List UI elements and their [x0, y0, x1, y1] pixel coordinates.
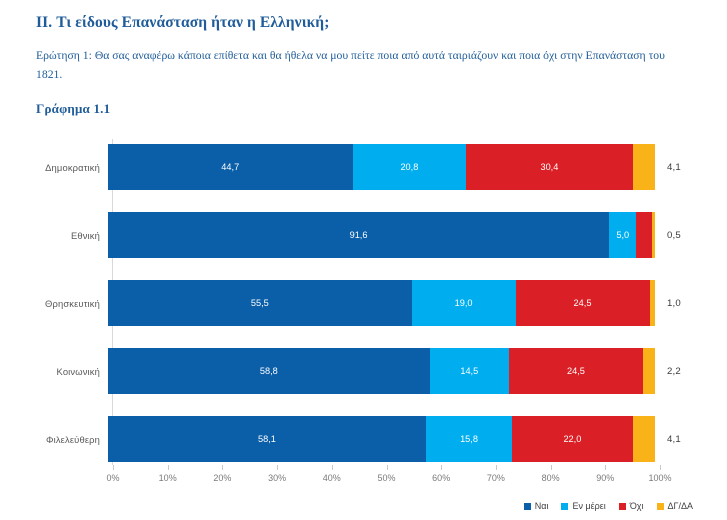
- segment-value: 24,5: [574, 298, 592, 308]
- legend-item-1[interactable]: Εν μέρει: [561, 501, 605, 511]
- x-axis-tick: [222, 465, 223, 470]
- bar-segment-2: 24,5: [509, 348, 643, 394]
- x-axis-tick: [441, 465, 442, 470]
- bar-segment-3: 4,1: [633, 416, 655, 462]
- x-axis-tick-label: 40%: [323, 473, 341, 483]
- x-axis-tick: [277, 465, 278, 470]
- x-axis-tick-label: 0%: [106, 473, 119, 483]
- stacked-bar: 91,65,02,90,5: [108, 212, 655, 258]
- bar-segment-1: 15,8: [426, 416, 512, 462]
- bar-segment-1: 5,0: [609, 212, 636, 258]
- segment-value: 58,1: [258, 434, 276, 444]
- x-axis-tick-label: 100%: [648, 473, 671, 483]
- bar-segment-3: 2,2: [643, 348, 655, 394]
- x-axis: 0%10%20%30%40%50%60%70%80%90%100%: [113, 465, 660, 495]
- outside-value-label: 1,0: [667, 298, 681, 309]
- header-block: II. Τι είδους Επανάσταση ήταν η Ελληνική…: [0, 0, 727, 117]
- x-axis-tick: [660, 465, 661, 470]
- figure-label: Γράφημα 1.1: [36, 101, 693, 117]
- segment-value: 58,8: [260, 366, 278, 376]
- x-axis-tick: [113, 465, 114, 470]
- x-axis-tick: [605, 465, 606, 470]
- chart-row: Δημοκρατική44,720,830,44,14,1: [0, 133, 727, 201]
- page-title: II. Τι είδους Επανάσταση ήταν η Ελληνική…: [36, 14, 693, 33]
- legend-swatch-icon: [619, 503, 626, 510]
- outside-value-label: 2,2: [667, 366, 681, 377]
- x-axis-tick: [332, 465, 333, 470]
- stacked-bar: 58,814,524,52,2: [108, 348, 655, 394]
- stacked-bar: 58,115,822,04,1: [108, 416, 655, 462]
- bar-segment-1: 14,5: [430, 348, 509, 394]
- category-label: Φιλελεύθερη: [0, 434, 108, 445]
- legend-swatch-icon: [524, 503, 531, 510]
- bar-segment-1: 19,0: [412, 280, 516, 326]
- segment-value: 19,0: [455, 298, 473, 308]
- bar-segment-0: 58,1: [108, 416, 426, 462]
- segment-value: 24,5: [567, 366, 585, 376]
- chart-row: Φιλελεύθερη58,115,822,04,14,1: [0, 405, 727, 473]
- legend-label: Όχι: [630, 501, 644, 511]
- outside-value-label: 0,5: [667, 230, 681, 241]
- outside-value-label: 4,1: [667, 162, 681, 173]
- x-axis-tick-label: 10%: [159, 473, 177, 483]
- legend-swatch-icon: [657, 503, 664, 510]
- segment-value: 5,0: [616, 230, 629, 240]
- chart-row: Θρησκευτική55,519,024,51,01,0: [0, 269, 727, 337]
- legend-item-3[interactable]: ΔΓ/ΔΑ: [657, 501, 693, 511]
- x-axis-tick-label: 80%: [542, 473, 560, 483]
- bar-segment-1: 20,8: [353, 144, 467, 190]
- legend-label: ΔΓ/ΔΑ: [668, 501, 693, 511]
- chart-legend: ΝαιΕν μέρειΌχιΔΓ/ΔΑ: [524, 501, 693, 511]
- segment-value: 20,8: [400, 162, 418, 172]
- legend-label: Ναι: [535, 501, 549, 511]
- segment-value: 30,4: [540, 162, 558, 172]
- legend-item-2[interactable]: Όχι: [619, 501, 644, 511]
- bar-segment-2: 2,9: [636, 212, 652, 258]
- stacked-bar-chart: Δημοκρατική44,720,830,44,14,1Εθνική91,65…: [0, 133, 727, 520]
- segment-value: 44,7: [221, 162, 239, 172]
- segment-value: 14,5: [460, 366, 478, 376]
- bar-segment-0: 58,8: [108, 348, 430, 394]
- category-label: Δημοκρατική: [0, 162, 108, 173]
- x-axis-tick: [496, 465, 497, 470]
- bar-segment-0: 55,5: [108, 280, 412, 326]
- bar-segment-0: 44,7: [108, 144, 353, 190]
- chart-row: Εθνική91,65,02,90,50,5: [0, 201, 727, 269]
- x-axis-tick-label: 90%: [596, 473, 614, 483]
- x-axis-tick: [387, 465, 388, 470]
- bar-segment-2: 30,4: [466, 144, 632, 190]
- legend-label: Εν μέρει: [572, 501, 605, 511]
- bar-segment-2: 22,0: [512, 416, 632, 462]
- legend-swatch-icon: [561, 503, 568, 510]
- x-axis-tick-label: 50%: [377, 473, 395, 483]
- bar-segment-2: 24,5: [516, 280, 650, 326]
- x-axis-tick-label: 30%: [268, 473, 286, 483]
- stacked-bar: 44,720,830,44,1: [108, 144, 655, 190]
- segment-value: 55,5: [251, 298, 269, 308]
- outside-value-label: 4,1: [667, 434, 681, 445]
- segment-value: 91,6: [350, 230, 368, 240]
- chart-rows: Δημοκρατική44,720,830,44,14,1Εθνική91,65…: [0, 133, 727, 473]
- x-axis-tick-label: 20%: [213, 473, 231, 483]
- legend-item-0[interactable]: Ναι: [524, 501, 549, 511]
- x-axis-tick: [551, 465, 552, 470]
- segment-value: 15,8: [460, 434, 478, 444]
- category-label: Εθνική: [0, 230, 108, 241]
- category-label: Κοινωνική: [0, 366, 108, 377]
- stacked-bar: 55,519,024,51,0: [108, 280, 655, 326]
- category-label: Θρησκευτική: [0, 298, 108, 309]
- segment-value: 22,0: [563, 434, 581, 444]
- bar-segment-3: 4,1: [633, 144, 655, 190]
- x-axis-tick: [168, 465, 169, 470]
- document-page: II. Τι είδους Επανάσταση ήταν η Ελληνική…: [0, 0, 727, 520]
- question-text: Ερώτηση 1: Θα σας αναφέρω κάποια επίθετα…: [36, 47, 693, 85]
- bar-segment-3: 1,0: [650, 280, 655, 326]
- bar-segment-0: 91,6: [108, 212, 609, 258]
- chart-row: Κοινωνική58,814,524,52,22,2: [0, 337, 727, 405]
- x-axis-tick-label: 60%: [432, 473, 450, 483]
- bar-segment-3: 0,5: [652, 212, 655, 258]
- x-axis-tick-label: 70%: [487, 473, 505, 483]
